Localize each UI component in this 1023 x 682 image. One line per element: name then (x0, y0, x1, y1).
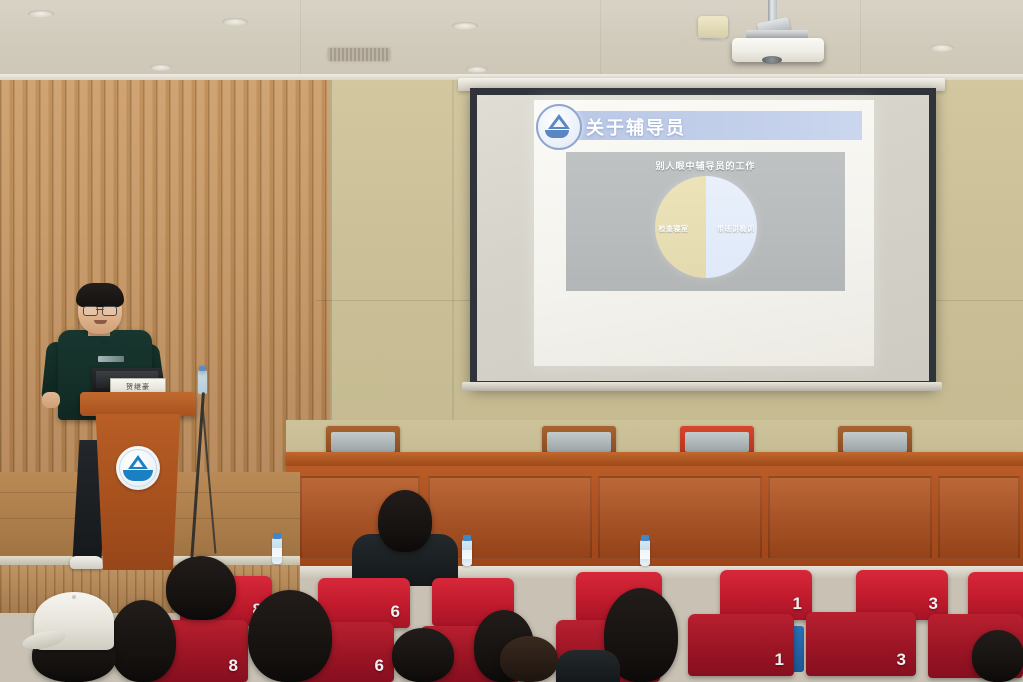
audience-head (110, 600, 176, 682)
slide-title: 关于辅导员 (586, 114, 686, 140)
auditorium-seat[interactable]: 1 (688, 614, 794, 676)
auditorium-seat[interactable]: 1 (720, 570, 812, 620)
audience-head (166, 556, 236, 620)
seat-number: 3 (929, 594, 938, 614)
baseball-cap (34, 592, 114, 650)
ceiling-light-icon (222, 18, 248, 26)
shirt-logo-icon (98, 356, 124, 362)
seat-number: 8 (229, 656, 238, 676)
ceiling-light-icon (28, 10, 54, 18)
water-bottle (640, 540, 650, 566)
university-emblem-icon (536, 104, 582, 150)
audience-head (392, 628, 454, 682)
seat-number: 6 (391, 602, 400, 622)
audience-body (556, 650, 620, 682)
smoke-detector-icon (698, 16, 728, 38)
podium-water-bottle (198, 370, 207, 394)
audience-head (972, 630, 1023, 682)
pie-chart-panel: 别人眼中辅导员的工作 检查寝室 带班讲晚训 (566, 152, 845, 291)
projector (724, 0, 844, 62)
ceiling-light-icon (150, 64, 172, 71)
ceiling (0, 0, 1023, 82)
audience-head (248, 590, 332, 682)
university-seal-icon (116, 446, 160, 490)
water-bottle (462, 540, 472, 566)
projected-slide: 关于辅导员 别人眼中辅导员的工作 检查寝室 带班讲晚训 (534, 100, 874, 366)
stage-chair (838, 426, 912, 452)
ceiling-ring-icon (680, 36, 730, 50)
ceiling-light-icon (452, 22, 478, 30)
pie-chart: 检查寝室 带班讲晚训 (655, 176, 757, 278)
stage-chair (542, 426, 616, 452)
pie-label-left: 检查寝室 (659, 224, 689, 234)
audience-head (500, 636, 558, 682)
speaker-head (78, 286, 122, 334)
water-bottle (272, 538, 282, 564)
chart-title: 别人眼中辅导员的工作 (566, 159, 845, 172)
speaker-hand (42, 392, 60, 408)
auditorium-seat[interactable]: 6 (318, 578, 410, 628)
podium: 贺继豪 (80, 392, 196, 570)
screen-bottom-bar (462, 382, 942, 391)
audience-head (378, 490, 432, 552)
glasses-icon (83, 306, 117, 314)
seat-number: 1 (793, 594, 802, 614)
seat-number: 3 (897, 650, 906, 670)
ceiling-light-icon (466, 66, 488, 73)
stage-chair (680, 426, 754, 452)
lecture-hall-scene: 关于辅导员 别人眼中辅导员的工作 检查寝室 带班讲晚训 (0, 0, 1023, 682)
stage-chair (326, 426, 400, 452)
name-placard-text: 贺继豪 (111, 382, 165, 392)
projector-lens-icon (762, 56, 782, 64)
pie-label-right: 带班讲晚训 (717, 224, 755, 234)
podium-top (80, 392, 196, 416)
ceiling-vent-icon (328, 48, 390, 61)
seat-number: 6 (375, 656, 384, 676)
ceiling-light-icon (930, 44, 954, 52)
podium-body (92, 414, 184, 570)
seat-number: 1 (775, 650, 784, 670)
auditorium-seat[interactable]: 3 (806, 612, 916, 676)
